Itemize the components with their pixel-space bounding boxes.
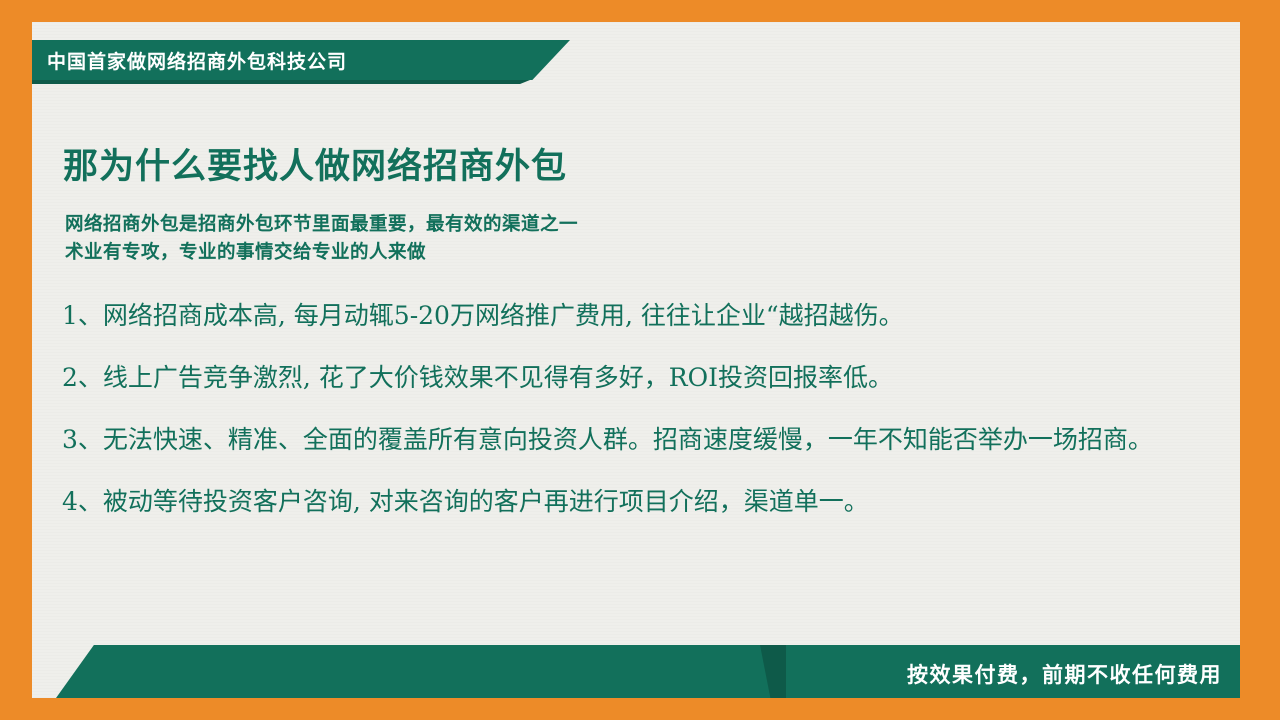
subtitle-line-2: 术业有专攻，专业的事情交给专业的人来做 <box>65 238 578 266</box>
bullet-list: 1、网络招商成本高, 每月动辄5-20万网络推广费用, 往往让企业“越招越伤。 … <box>62 295 1202 543</box>
top-banner: 中国首家做网络招商外包科技公司 <box>32 40 570 80</box>
list-item: 2、线上广告竞争激烈, 花了大价钱效果不见得有多好，ROI投资回报率低。 <box>62 357 1202 398</box>
subtitle-line-1: 网络招商外包是招商外包环节里面最重要，最有效的渠道之一 <box>65 210 578 238</box>
subtitle-block: 网络招商外包是招商外包环节里面最重要，最有效的渠道之一 术业有专攻，专业的事情交… <box>65 210 578 266</box>
footer-label: 按效果付费，前期不收任何费用 <box>907 659 1222 689</box>
page-title: 那为什么要找人做网络招商外包 <box>63 138 567 189</box>
list-item: 4、被动等待投资客户咨询, 对来咨询的客户再进行项目介绍，渠道单一。 <box>62 481 1202 522</box>
list-item: 1、网络招商成本高, 每月动辄5-20万网络推广费用, 往往让企业“越招越伤。 <box>62 295 1202 336</box>
list-item: 3、无法快速、精准、全面的覆盖所有意向投资人群。招商速度缓慢，一年不知能否举办一… <box>62 419 1202 460</box>
slide-root: 中国首家做网络招商外包科技公司 那为什么要找人做网络招商外包 网络招商外包是招商… <box>0 0 1280 720</box>
top-banner-accent <box>32 80 530 84</box>
top-banner-label: 中国首家做网络招商外包科技公司 <box>47 47 347 74</box>
